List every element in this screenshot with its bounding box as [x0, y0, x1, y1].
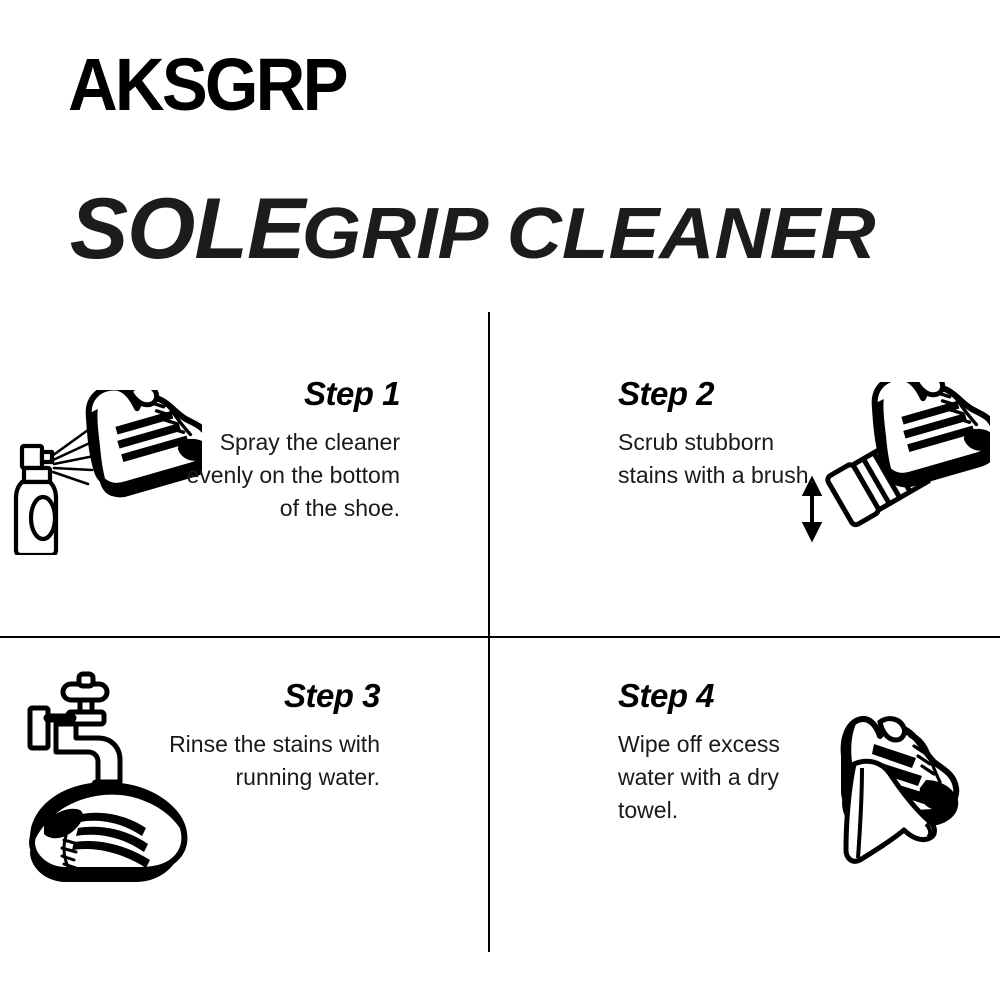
step-label-4: Step 4 — [618, 678, 838, 714]
step-text-1: Step 1 Spray the cleaner evenly on the b… — [180, 376, 400, 524]
page-title: SOLE GRIP CLEANER — [72, 186, 860, 272]
step-card-4: Step 4 Wipe off excess water with a dry … — [490, 640, 1000, 960]
step-body-2: Scrub stubborn stains with a brush. — [618, 426, 838, 491]
step-body-1: Spray the cleaner evenly on the bottom o… — [180, 426, 400, 524]
step-text-3: Step 3 Rinse the stains with running wat… — [160, 678, 380, 794]
step-label-3: Step 3 — [160, 678, 380, 714]
spray-bottle-and-shoe-icon — [12, 390, 202, 555]
step-card-1: Step 1 Spray the cleaner evenly on the b… — [0, 320, 488, 636]
page-title-primary: SOLE — [70, 186, 305, 272]
step-card-3: Step 3 Rinse the stains with running wat… — [0, 640, 488, 960]
step-text-2: Step 2 Scrub stubborn stains with a brus… — [618, 376, 838, 492]
step-body-4: Wipe off excess water with a dry towel. — [618, 728, 838, 826]
brand-logo: AKSGRP — [68, 48, 346, 122]
step-label-1: Step 1 — [180, 376, 400, 412]
step-label-2: Step 2 — [618, 376, 838, 412]
horizontal-divider — [0, 636, 1000, 638]
step-card-2: Step 2 Scrub stubborn stains with a brus… — [490, 320, 1000, 636]
step-text-4: Step 4 Wipe off excess water with a dry … — [618, 678, 838, 826]
page-title-secondary: GRIP CLEANER — [302, 198, 876, 270]
towel-and-shoe-icon — [812, 698, 997, 878]
step-body-3: Rinse the stains with running water. — [160, 728, 380, 793]
